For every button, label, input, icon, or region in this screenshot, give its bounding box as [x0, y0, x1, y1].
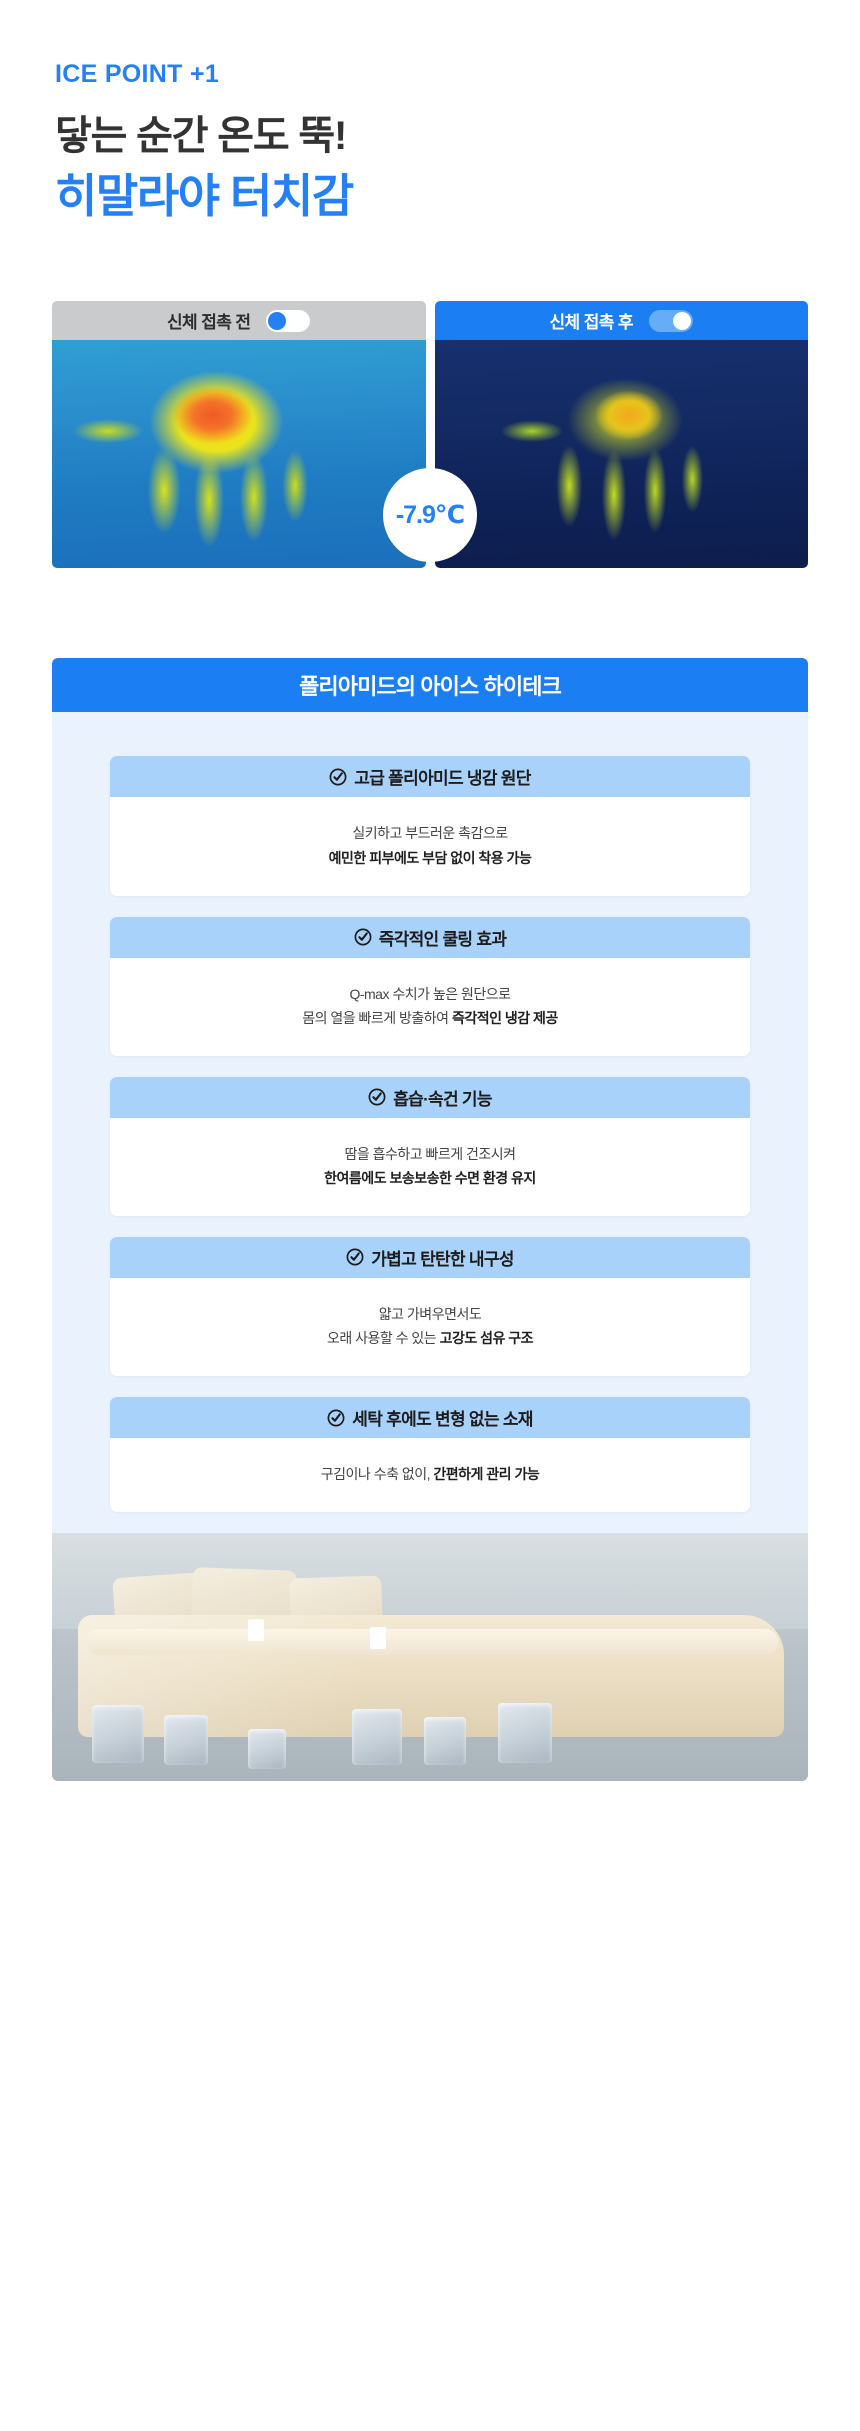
thermal-before-image: [52, 340, 426, 568]
thermal-after-bar: 신체 접촉 후: [435, 301, 809, 340]
blanket-fold: [86, 1629, 778, 1655]
check-circle-icon: [329, 768, 347, 786]
feature-panel-header: 폴리아미드의 아이스 하이테크: [52, 658, 808, 712]
feature-card-line-1: Q-max 수치가 높은 원단으로: [124, 982, 736, 1006]
toggle-on-icon[interactable]: [649, 310, 693, 332]
feature-card-line-2-prefix: 몸의 열을 빠르게 방출하여: [302, 1010, 452, 1026]
check-circle-icon: [327, 1409, 345, 1427]
headline-primary: 닿는 순간 온도 뚝!: [55, 113, 860, 160]
ice-block: [498, 1703, 552, 1763]
ice-block: [92, 1705, 144, 1763]
feature-card-line-2: 예민한 피부에도 부담 없이 착용 가능: [124, 846, 736, 870]
feature-card-body: 구김이나 수축 없이, 간편하게 관리 가능: [110, 1438, 750, 1512]
ice-block: [164, 1715, 208, 1765]
feature-card-line-1: 얇고 가벼우면서도: [124, 1302, 736, 1326]
fabric-tag: [248, 1619, 264, 1641]
feature-card-list: 고급 폴리아미드 냉감 원단 실키하고 부드러운 촉감으로 예민한 피부에도 부…: [52, 712, 808, 1512]
feature-card-title: 세탁 후에도 변형 없는 소재: [352, 1405, 532, 1430]
check-circle-icon: [346, 1248, 364, 1266]
feature-card-header: 즉각적인 쿨링 효과: [110, 917, 750, 958]
feature-card-header: 흡습·속건 기능: [110, 1077, 750, 1118]
feature-card: 흡습·속건 기능 땀을 흡수하고 빠르게 건조시켜 한여름에도 보송보송한 수면…: [110, 1077, 750, 1216]
feature-panel: 폴리아미드의 아이스 하이테크 고급 폴리아미드 냉감 원단 실키하고 부드러운…: [52, 658, 808, 1781]
feature-card-line-2-emphasis: 간편하게 관리 가능: [433, 1466, 539, 1482]
feature-card-header: 고급 폴리아미드 냉감 원단: [110, 756, 750, 797]
feature-card-line-2-emphasis: 즉각적인 냉감 제공: [452, 1010, 558, 1026]
bed-with-ice-blocks-photo: [52, 1533, 808, 1781]
check-circle-icon: [354, 928, 372, 946]
headline-secondary: 히말라야 터치감: [55, 169, 860, 223]
feature-card-line-2-prefix: 오래 사용할 수 있는: [327, 1330, 440, 1346]
ice-block: [352, 1709, 402, 1765]
feature-card-line-2: 한여름에도 보송보송한 수면 환경 유지: [124, 1166, 736, 1190]
thermal-before-label: 신체 접촉 전: [167, 308, 250, 333]
feature-card: 가볍고 탄탄한 내구성 얇고 가벼우면서도 오래 사용할 수 있는 고강도 섬유…: [110, 1237, 750, 1376]
fabric-tag: [370, 1627, 386, 1649]
feature-card-title: 즉각적인 쿨링 효과: [379, 925, 507, 950]
feature-card-line-1: 실키하고 부드러운 촉감으로: [124, 821, 736, 845]
check-circle-icon: [368, 1088, 386, 1106]
feature-panel-title: 폴리아미드의 아이스 하이테크: [299, 669, 561, 701]
feature-card-title: 고급 폴리아미드 냉감 원단: [354, 764, 530, 789]
feature-card: 세탁 후에도 변형 없는 소재 구김이나 수축 없이, 간편하게 관리 가능: [110, 1397, 750, 1512]
feature-card-line-2: 구김이나 수축 없이, 간편하게 관리 가능: [124, 1462, 736, 1486]
feature-card-body: 땀을 흡수하고 빠르게 건조시켜 한여름에도 보송보송한 수면 환경 유지: [110, 1118, 750, 1216]
thermal-grid: 신체 접촉 전 신체 접촉 후 -7.9℃: [52, 301, 808, 568]
feature-card-body: 실키하고 부드러운 촉감으로 예민한 피부에도 부담 없이 착용 가능: [110, 797, 750, 895]
feature-card-body: 얇고 가벼우면서도 오래 사용할 수 있는 고강도 섬유 구조: [110, 1278, 750, 1376]
feature-card-title: 흡습·속건 기능: [393, 1085, 492, 1110]
feature-card-line-2: 오래 사용할 수 있는 고강도 섬유 구조: [124, 1326, 736, 1350]
thermal-after-image: [435, 340, 809, 568]
feature-card-line-2-emphasis: 고강도 섬유 구조: [440, 1330, 533, 1346]
hero-section: ICE POINT +1 닿는 순간 온도 뚝! 히말라야 터치감: [0, 0, 860, 223]
feature-card: 고급 폴리아미드 냉감 원단 실키하고 부드러운 촉감으로 예민한 피부에도 부…: [110, 756, 750, 895]
thermal-before-column: 신체 접촉 전: [52, 301, 426, 568]
temperature-value: -7.9℃: [396, 500, 464, 530]
eyebrow-label: ICE POINT +1: [55, 62, 860, 87]
ice-block: [424, 1717, 466, 1765]
thermal-comparison-section: 신체 접촉 전 신체 접촉 후 -7.9℃: [0, 301, 860, 568]
feature-card-line-2-prefix: 구김이나 수축 없이,: [321, 1466, 434, 1482]
thermal-after-column: 신체 접촉 후: [435, 301, 809, 568]
toggle-off-icon[interactable]: [266, 310, 310, 332]
feature-card: 즉각적인 쿨링 효과 Q-max 수치가 높은 원단으로 몸의 열을 빠르게 방…: [110, 917, 750, 1056]
temperature-badge: -7.9℃: [383, 468, 477, 562]
feature-card-line-2: 몸의 열을 빠르게 방출하여 즉각적인 냉감 제공: [124, 1006, 736, 1030]
ice-block: [248, 1729, 286, 1769]
thermal-after-label: 신체 접촉 후: [550, 308, 633, 333]
thermal-before-bar: 신체 접촉 전: [52, 301, 426, 340]
feature-card-body: Q-max 수치가 높은 원단으로 몸의 열을 빠르게 방출하여 즉각적인 냉감…: [110, 958, 750, 1056]
feature-card-title: 가볍고 탄탄한 내구성: [371, 1245, 514, 1270]
feature-card-line-1: 땀을 흡수하고 빠르게 건조시켜: [124, 1142, 736, 1166]
feature-card-header: 가볍고 탄탄한 내구성: [110, 1237, 750, 1278]
feature-card-header: 세탁 후에도 변형 없는 소재: [110, 1397, 750, 1438]
